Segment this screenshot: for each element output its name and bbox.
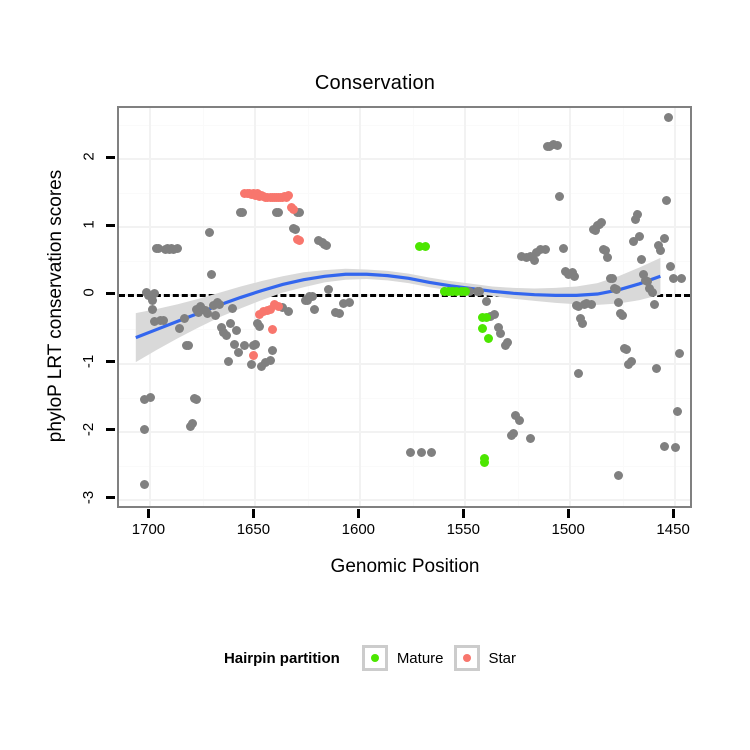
data-point-other — [614, 471, 623, 480]
data-point-other — [614, 298, 623, 307]
data-point-other — [673, 407, 682, 416]
gridline-major-vertical — [464, 108, 466, 506]
data-point-other — [635, 232, 644, 241]
data-point-star — [268, 325, 277, 334]
data-point-other — [224, 357, 233, 366]
data-point-other — [140, 480, 149, 489]
data-point-other — [587, 300, 596, 309]
y-axis-tick-label: 2 — [78, 148, 100, 165]
data-point-other — [503, 338, 512, 347]
data-point-other — [268, 346, 277, 355]
data-point-other — [650, 300, 659, 309]
legend: Hairpin partition MatureStar — [0, 645, 750, 671]
data-point-other — [496, 329, 505, 338]
data-point-other — [660, 442, 669, 451]
data-point-mature — [421, 242, 430, 251]
legend-label: Star — [489, 650, 517, 667]
data-point-other — [215, 300, 224, 309]
x-axis-tick-label: 1500 — [533, 521, 603, 538]
data-point-other — [150, 289, 159, 298]
data-point-other — [530, 256, 539, 265]
gridline-major-vertical — [569, 108, 571, 506]
y-axis-tick — [106, 428, 115, 431]
data-point-other — [515, 416, 524, 425]
gridline-major-horizontal — [119, 431, 690, 433]
legend-key-swatch — [362, 645, 388, 671]
data-point-other — [570, 272, 579, 281]
x-axis-tick-label: 1650 — [218, 521, 288, 538]
y-axis-tick-label: -3 — [78, 489, 100, 506]
data-point-other — [207, 270, 216, 279]
data-point-other — [427, 448, 436, 457]
x-axis-tick — [462, 509, 465, 518]
gridline-major-horizontal — [119, 499, 690, 501]
data-point-other — [482, 297, 491, 306]
gridline-major-horizontal — [119, 363, 690, 365]
gridline-major-vertical — [254, 108, 256, 506]
y-axis-tick-label: -2 — [78, 421, 100, 438]
data-point-other — [660, 234, 669, 243]
data-point-mature — [482, 313, 491, 322]
gridline-minor-horizontal — [119, 466, 690, 467]
data-point-other — [656, 246, 665, 255]
data-point-other — [637, 255, 646, 264]
gridline-minor-vertical — [623, 108, 624, 506]
data-point-other — [148, 305, 157, 314]
data-point-other — [322, 241, 331, 250]
data-point-other — [574, 369, 583, 378]
gridline-minor-horizontal — [119, 398, 690, 399]
data-point-other — [662, 196, 671, 205]
x-axis-tick — [357, 509, 360, 518]
legend-dot-icon — [463, 654, 471, 662]
data-point-mature — [484, 334, 493, 343]
gridline-minor-horizontal — [119, 329, 690, 330]
legend-items: MatureStar — [362, 645, 526, 671]
y-axis-tick-label: 1 — [78, 216, 100, 233]
data-point-mature — [478, 324, 487, 333]
data-point-other — [308, 292, 317, 301]
data-point-other — [648, 288, 657, 297]
x-axis-tick — [567, 509, 570, 518]
gridline-minor-horizontal — [119, 125, 690, 126]
data-point-other — [578, 319, 587, 328]
data-point-star — [289, 205, 298, 214]
x-axis-tick-label: 1600 — [323, 521, 393, 538]
data-point-other — [188, 419, 197, 428]
y-axis-tick — [106, 292, 115, 295]
y-axis-tick-label: 0 — [78, 284, 100, 301]
data-point-other — [622, 345, 631, 354]
data-point-other — [509, 429, 518, 438]
data-point-other — [310, 305, 319, 314]
legend-dot-icon — [371, 654, 379, 662]
x-axis-tick-label: 1550 — [428, 521, 498, 538]
data-point-other — [490, 310, 499, 319]
data-point-other — [664, 113, 673, 122]
data-point-other — [555, 192, 564, 201]
y-axis-tick-label: -1 — [78, 353, 100, 370]
data-point-other — [175, 324, 184, 333]
legend-label: Mature — [397, 650, 444, 667]
data-point-other — [553, 141, 562, 150]
data-point-other — [671, 443, 680, 452]
x-axis-tick-label: 1450 — [638, 521, 708, 538]
data-point-other — [627, 357, 636, 366]
data-point-other — [222, 331, 231, 340]
data-point-other — [211, 311, 220, 320]
gridline-minor-vertical — [308, 108, 309, 506]
gridline-major-vertical — [359, 108, 361, 506]
data-point-other — [284, 307, 293, 316]
data-point-other — [652, 364, 661, 373]
x-axis-tick-label: 1700 — [113, 521, 183, 538]
gridline-minor-horizontal — [119, 193, 690, 194]
data-point-other — [618, 311, 627, 320]
gridline-minor-vertical — [413, 108, 414, 506]
data-point-other — [205, 228, 214, 237]
gridline-minor-vertical — [518, 108, 519, 506]
data-point-other — [173, 244, 182, 253]
data-point-other — [184, 341, 193, 350]
data-point-star — [249, 351, 258, 360]
data-point-other — [159, 316, 168, 325]
data-point-other — [633, 210, 642, 219]
legend-key-swatch — [454, 645, 480, 671]
x-axis-tick — [252, 509, 255, 518]
data-point-other — [192, 395, 201, 404]
data-point-other — [180, 314, 189, 323]
y-axis-tick — [106, 224, 115, 227]
data-point-other — [291, 225, 300, 234]
data-point-other — [238, 208, 247, 217]
gridline-major-horizontal — [119, 158, 690, 160]
data-point-other — [251, 340, 260, 349]
data-point-other — [232, 326, 241, 335]
legend-item-mature[interactable]: Mature — [362, 645, 444, 671]
data-point-other — [677, 274, 686, 283]
zero-reference-line — [119, 294, 690, 297]
x-axis-tick — [147, 509, 150, 518]
data-point-other — [274, 208, 283, 217]
data-point-other — [417, 448, 426, 457]
x-axis-tick — [672, 509, 675, 518]
data-point-other — [559, 244, 568, 253]
data-point-other — [608, 274, 617, 283]
data-point-star — [295, 236, 304, 245]
legend-item-star[interactable]: Star — [454, 645, 517, 671]
data-point-other — [541, 245, 550, 254]
data-point-other — [255, 322, 264, 331]
data-point-other — [345, 298, 354, 307]
conservation-scatter-figure: Conservation phyloP LRT conservation sco… — [0, 0, 750, 750]
y-axis-tick — [106, 156, 115, 159]
data-point-other — [675, 349, 684, 358]
data-point-other — [526, 434, 535, 443]
chart-title: Conservation — [0, 72, 750, 95]
plot-panel — [117, 106, 692, 508]
gridline-major-horizontal — [119, 226, 690, 228]
data-point-other — [406, 448, 415, 457]
x-axis-label: Genomic Position — [117, 556, 693, 578]
data-point-other — [266, 356, 275, 365]
y-axis-label: phyloP LRT conservation scores — [42, 96, 70, 516]
y-axis-tick — [106, 496, 115, 499]
data-point-other — [140, 425, 149, 434]
data-point-other — [335, 309, 344, 318]
data-point-star — [284, 191, 293, 200]
legend-title: Hairpin partition — [224, 650, 340, 667]
data-point-other — [146, 393, 155, 402]
y-axis-label-text: phyloP LRT conservation scores — [45, 170, 67, 443]
y-axis-tick — [106, 360, 115, 363]
data-point-other — [228, 304, 237, 313]
